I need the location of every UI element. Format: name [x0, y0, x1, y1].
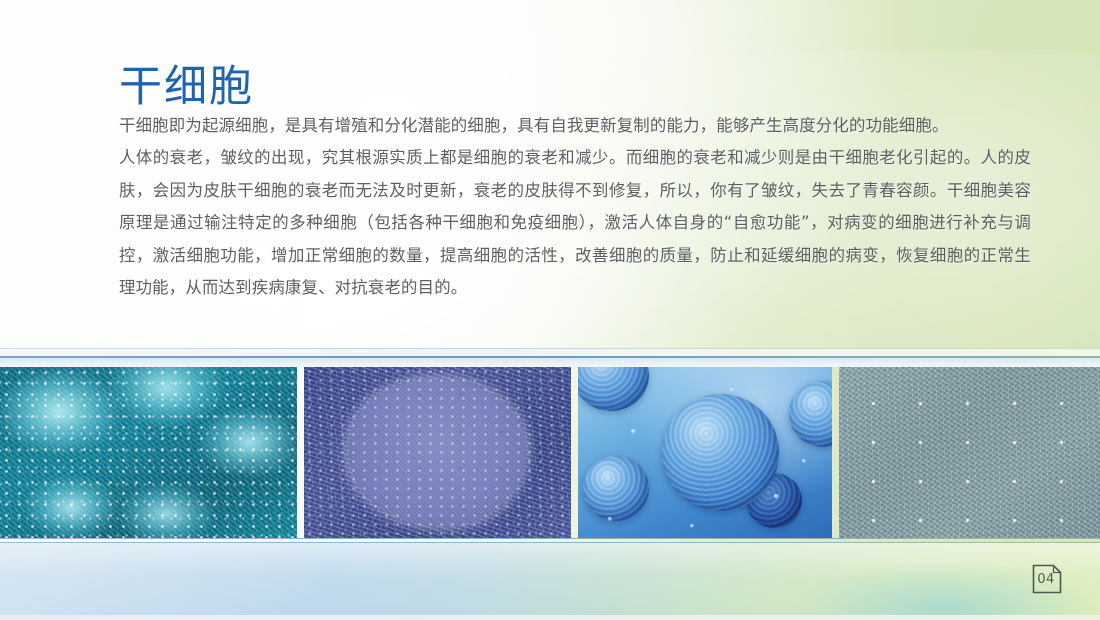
photo-teal-stem-cell-colony-micrograph	[0, 367, 297, 538]
photo-2-speckles	[304, 367, 571, 538]
cell-dot-3	[774, 494, 779, 499]
body-paragraph-2: 人体的衰老，皱纹的出现，究其根源实质上都是细胞的衰老和减少。而细胞的衰老和减少则…	[119, 142, 1031, 304]
footer-hairline	[0, 538, 1100, 539]
cell-sphere-main	[662, 394, 779, 510]
divider-wash	[0, 358, 1100, 367]
cell-dot-2	[730, 388, 734, 392]
footer-band	[0, 538, 1100, 620]
footer-glow	[0, 543, 1100, 615]
photo-4-speckles	[839, 367, 1100, 538]
footer-edge	[0, 615, 1100, 620]
divider-band	[0, 349, 1100, 356]
footer-gradient	[0, 543, 1100, 615]
photo-gray-fibroblast-monolayer-micrograph	[839, 367, 1100, 538]
body-text-block: 干细胞即为起源细胞，是具有增殖和分化潜能的细胞，具有自我更新复制的能力，能够产生…	[119, 110, 1031, 304]
body-paragraph-1: 干细胞即为起源细胞，是具有增殖和分化潜能的细胞，具有自我更新复制的能力，能够产生…	[119, 110, 1031, 142]
page-number-badge: 04	[1032, 564, 1062, 594]
page-number-text: 04	[1032, 564, 1062, 594]
photo-violet-stained-cell-colony-micrograph	[304, 367, 571, 538]
cell-dot-1	[631, 429, 636, 434]
content-divider	[0, 348, 1100, 367]
cell-dot-5	[802, 459, 806, 463]
photo-strip	[0, 367, 1100, 538]
photo-1-speckles	[0, 367, 297, 538]
slide-canvas: 干细胞 干细胞即为起源细胞，是具有增殖和分化潜能的细胞，具有自我更新复制的能力，…	[0, 0, 1100, 620]
cell-sphere-bottom-left	[583, 456, 649, 521]
photo-blue-cell-spheres-illustration	[578, 367, 832, 538]
page-title: 干细胞	[119, 62, 254, 113]
